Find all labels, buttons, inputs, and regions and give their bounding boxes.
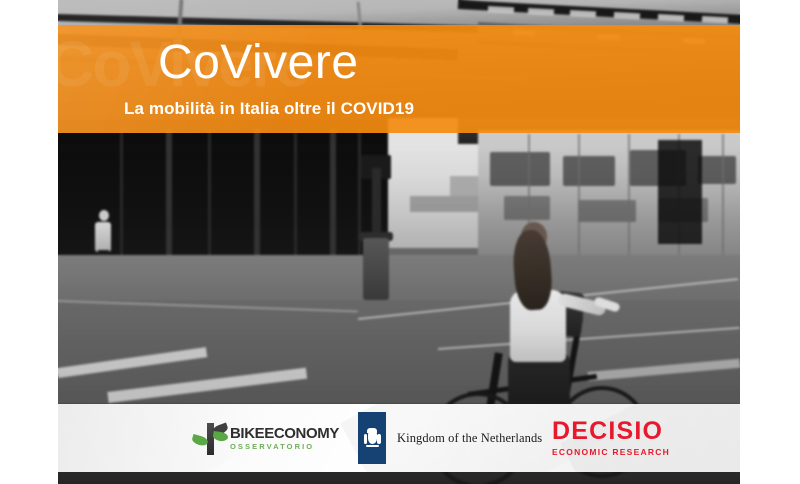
- leaf-icon: [193, 421, 227, 455]
- bikeconomy-logo-secondary: OSSERVATORIO: [230, 443, 339, 451]
- glass-reflection: [490, 152, 550, 186]
- netherlands-logo-label: Kingdom of the Netherlands: [397, 431, 542, 446]
- cover-slide: CoVivere CoVivere La mobilità in Italia …: [0, 0, 800, 484]
- ceiling-light: [528, 8, 554, 15]
- glass-mullion: [628, 134, 630, 274]
- bikeconomy-logo[interactable]: BIKEECONOMY OSSERVATORIO: [193, 404, 339, 472]
- bikeconomy-logo-primary: BIKEECONOMY: [230, 426, 339, 441]
- glass-reflection: [504, 196, 550, 220]
- ceiling-light: [658, 14, 684, 21]
- sponsor-logo-bar: BIKEECONOMY OSSERVATORIO Kingdom of th: [58, 404, 740, 472]
- litter-bin: [363, 238, 389, 300]
- kingdom-of-the-netherlands-logo[interactable]: Kingdom of the Netherlands: [358, 404, 542, 472]
- decisio-logo[interactable]: DECISIO ECONOMIC RESEARCH: [552, 404, 670, 472]
- glass-reflection: [563, 156, 615, 186]
- ceiling-light: [614, 12, 640, 19]
- page-subtitle: La mobilità in Italia oltre il COVID19: [124, 99, 414, 119]
- title-banner: CoVivere CoVivere La mobilità in Italia …: [58, 25, 740, 133]
- glass-mullion: [722, 134, 724, 274]
- building-entrance: [658, 140, 702, 244]
- ceiling-light: [702, 16, 728, 23]
- person-worker: [95, 222, 111, 252]
- page-title: CoVivere: [158, 39, 359, 87]
- ceiling-light: [488, 6, 514, 13]
- netherlands-blue-bar: [358, 412, 386, 464]
- decisio-logo-primary: DECISIO: [552, 419, 670, 444]
- person-worker: [99, 210, 109, 221]
- sign-post: [372, 168, 381, 240]
- decisio-logo-secondary: ECONOMIC RESEARCH: [552, 448, 670, 457]
- ceiling-light: [570, 10, 596, 17]
- glass-mullion: [578, 134, 580, 274]
- netherlands-coat-of-arms-icon: [364, 428, 381, 449]
- glass-reflection: [698, 156, 736, 184]
